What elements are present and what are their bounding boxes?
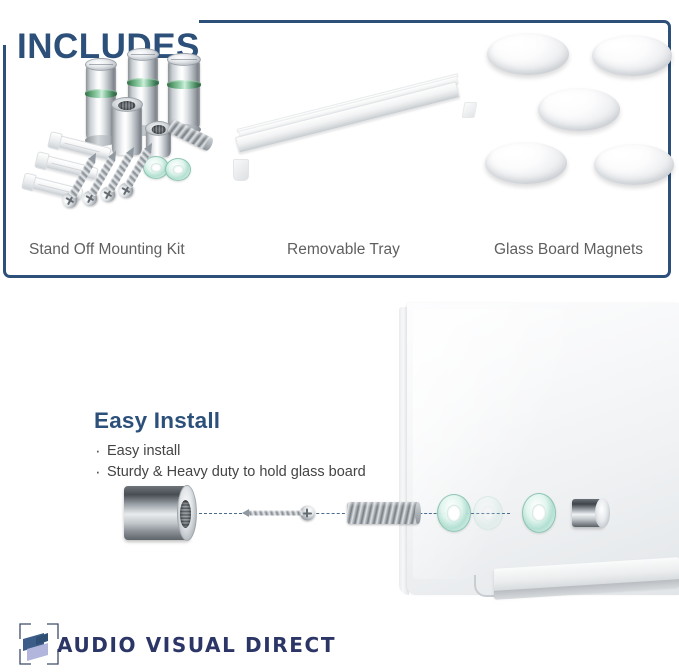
caption-glass-board-magnets: Glass Board Magnets (494, 241, 643, 259)
removable-tray-image (231, 99, 481, 203)
standoff-cap-top (167, 53, 201, 66)
standoff-mounting-kit-image (13, 41, 228, 236)
exploded-standoff-assembly-diagram (110, 483, 530, 545)
glass-board-magnets-image (479, 25, 675, 210)
standoff-green-ring (127, 78, 159, 87)
audio-visual-direct-logo-mark (17, 621, 61, 667)
glass-board-panel-with-tray (399, 303, 679, 608)
screw-shank (248, 511, 303, 516)
standoff-cap-top (127, 48, 159, 61)
includes-caption-row: Stand Off Mounting Kit Removable Tray Gl… (3, 241, 675, 265)
screw-tip (242, 509, 249, 517)
assembly-center-axis (194, 513, 242, 514)
glass-board-magnet (594, 144, 674, 185)
caption-stand-off-mounting-kit: Stand Off Mounting Kit (29, 241, 185, 259)
product-infographic-page: INCLUDES (0, 0, 679, 672)
easy-install-bullet-list: Easy install Sturdy & Heavy duty to hold… (94, 441, 394, 483)
barrel-standoff (124, 486, 190, 540)
assembly-screw (241, 505, 315, 521)
glass-board-magnet (487, 33, 569, 75)
barrel-thread-hole (180, 500, 191, 528)
glass-board-magnet (592, 35, 672, 76)
easy-install-title: Easy Install (94, 408, 394, 434)
standoff-cap-top (85, 58, 117, 71)
glass-board-magnet (485, 142, 567, 184)
assembly-threaded-rod (347, 502, 419, 524)
brand-name-text: AUDIO VISUAL DIRECT (57, 633, 336, 657)
bullet-item: Sturdy & Heavy duty to hold glass board (94, 462, 394, 483)
glass-washer-behind-panel (473, 496, 503, 530)
standoff-green-ring (167, 80, 201, 89)
glass-washer (437, 494, 471, 532)
includes-section: INCLUDES (3, 3, 675, 280)
glass-washer (165, 158, 191, 181)
socket-thread-hole (151, 125, 166, 134)
tray-right-end-cap (462, 102, 478, 118)
glass-washer (522, 493, 556, 533)
chrome-cap-face (595, 498, 610, 528)
glass-board-magnet (538, 88, 620, 131)
footer-brand-logo: AUDIO VISUAL DIRECT (17, 621, 317, 667)
chrome-cap (572, 499, 604, 527)
bullet-item: Easy install (94, 441, 394, 462)
easy-install-text-block: Easy Install Easy install Sturdy & Heavy… (94, 408, 394, 483)
standoff-green-ring (85, 89, 117, 98)
caption-removable-tray: Removable Tray (287, 241, 400, 259)
tray-left-end-cap (233, 159, 249, 181)
